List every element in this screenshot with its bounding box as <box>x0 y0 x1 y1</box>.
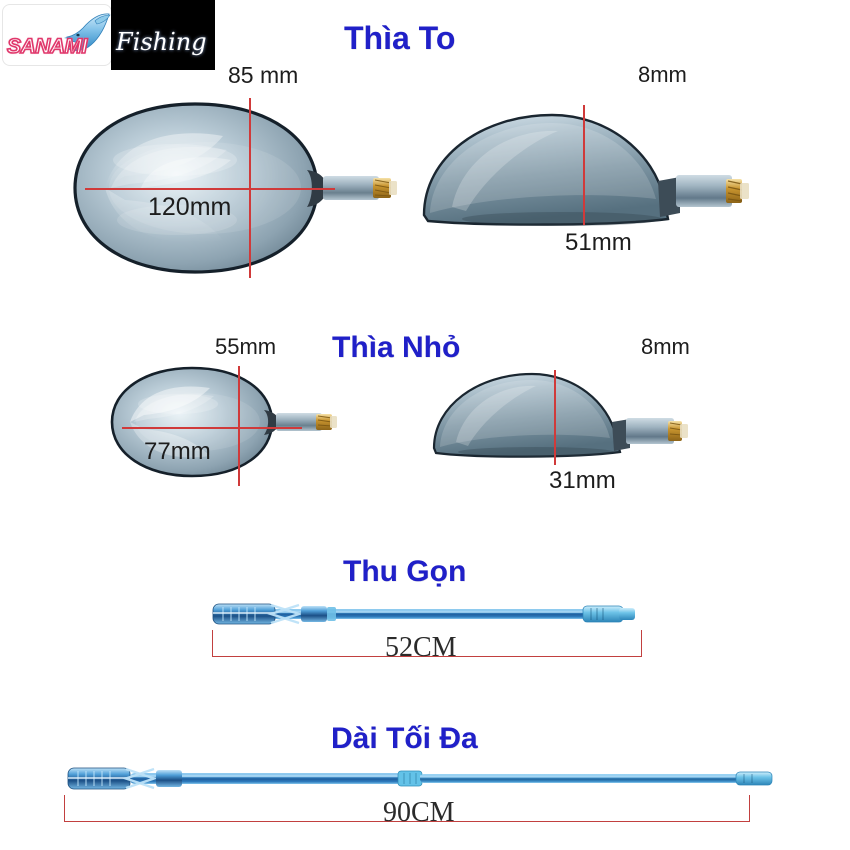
label-height-large: 51mm <box>565 229 632 257</box>
section-title-thu-gon: Thu Gọn <box>343 555 466 589</box>
label-length-extended: 90CM <box>383 797 455 829</box>
label-length-collapsed: 52CM <box>385 632 457 664</box>
measure-line-width-large <box>249 98 251 278</box>
measure-line-height-large-side <box>583 105 585 225</box>
product-spec-diagram: SANAMI Fishing Thìa To <box>0 0 850 850</box>
label-length-large: 120mm <box>148 193 231 222</box>
label-height-small: 31mm <box>549 467 616 495</box>
measure-line-length-large <box>85 188 335 190</box>
spoon-small-top-view <box>100 358 400 486</box>
spoon-small-side-view <box>424 362 734 467</box>
label-width-large: 85 mm <box>228 62 298 89</box>
sanami-wordmark: SANAMI <box>7 35 87 59</box>
brand-logo-group: SANAMI Fishing <box>0 0 215 72</box>
sanami-logo: SANAMI <box>3 5 111 65</box>
label-length-small: 77mm <box>144 438 211 466</box>
spoon-large-side-view <box>412 95 762 235</box>
fishing-wordmark: Fishing <box>116 28 207 56</box>
label-thickness-small: 8mm <box>641 334 690 360</box>
label-thickness-large: 8mm <box>638 62 687 88</box>
section-title-thia-to: Thìa To <box>344 20 455 57</box>
measure-line-length-small <box>122 427 302 429</box>
handle-extended <box>62 762 812 798</box>
section-title-dai-toi-da: Dài Tối Đa <box>331 722 478 756</box>
handle-collapsed <box>205 598 645 632</box>
label-width-small: 55mm <box>215 334 276 360</box>
fishing-logo: Fishing <box>111 0 215 70</box>
measure-line-width-small <box>238 366 240 486</box>
measure-line-height-small-side <box>554 370 556 465</box>
